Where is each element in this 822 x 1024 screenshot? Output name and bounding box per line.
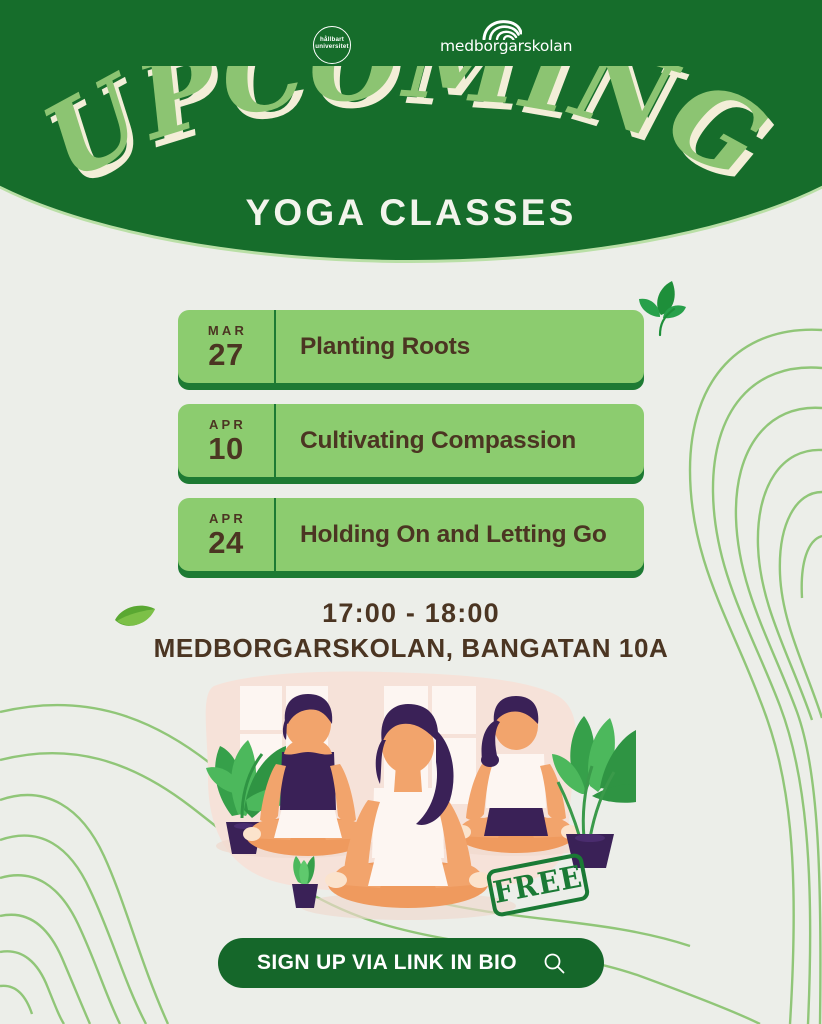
class-day: 27 (208, 339, 243, 370)
poster-canvas: hållbart universitet medborgarskolan (0, 0, 822, 1024)
hallbart-universitet-logo: hållbart universitet (306, 28, 358, 60)
page-title: UPCOMING UPCOMING (0, 66, 822, 186)
class-month: APR (206, 417, 246, 432)
class-day: 24 (208, 527, 243, 558)
class-title: Holding On and Letting Go (276, 498, 644, 571)
medborgarskolan-logo: medborgarskolan (440, 20, 560, 60)
event-time: 17:00 - 18:00 (0, 598, 822, 628)
top-banner: hållbart universitet medborgarskolan (0, 0, 822, 260)
search-icon (543, 952, 565, 974)
free-stamp-label: FREE (491, 862, 585, 909)
event-details: 17:00 - 18:00 MEDBORGARSKOLAN, BANGATAN … (0, 598, 822, 664)
class-card[interactable]: MAR 27 Planting Roots (178, 310, 644, 383)
medborgarskolan-wordmark: medborgarskolan (440, 37, 560, 55)
page-subtitle: YOGA CLASSES (0, 192, 822, 234)
sign-up-button[interactable]: SIGN UP VIA LINK IN BIO (218, 938, 604, 988)
class-date: APR 24 (178, 498, 276, 571)
class-card[interactable]: APR 24 Holding On and Letting Go (178, 498, 644, 571)
class-card[interactable]: APR 10 Cultivating Compassion (178, 404, 644, 477)
class-month: MAR (205, 323, 247, 338)
class-title: Cultivating Compassion (276, 404, 644, 477)
class-date: MAR 27 (178, 310, 276, 383)
hu-logo-line2: universitet (315, 44, 349, 51)
sign-up-label: SIGN UP VIA LINK IN BIO (257, 951, 517, 975)
class-day: 10 (208, 433, 243, 464)
class-title: Planting Roots (276, 310, 644, 383)
event-location: MEDBORGARSKOLAN, BANGATAN 10A (0, 632, 822, 664)
class-month: APR (206, 511, 246, 526)
logo-row: hållbart universitet medborgarskolan (0, 12, 822, 58)
class-list: MAR 27 Planting Roots APR 10 Cultivating… (178, 310, 644, 592)
class-date: APR 10 (178, 404, 276, 477)
